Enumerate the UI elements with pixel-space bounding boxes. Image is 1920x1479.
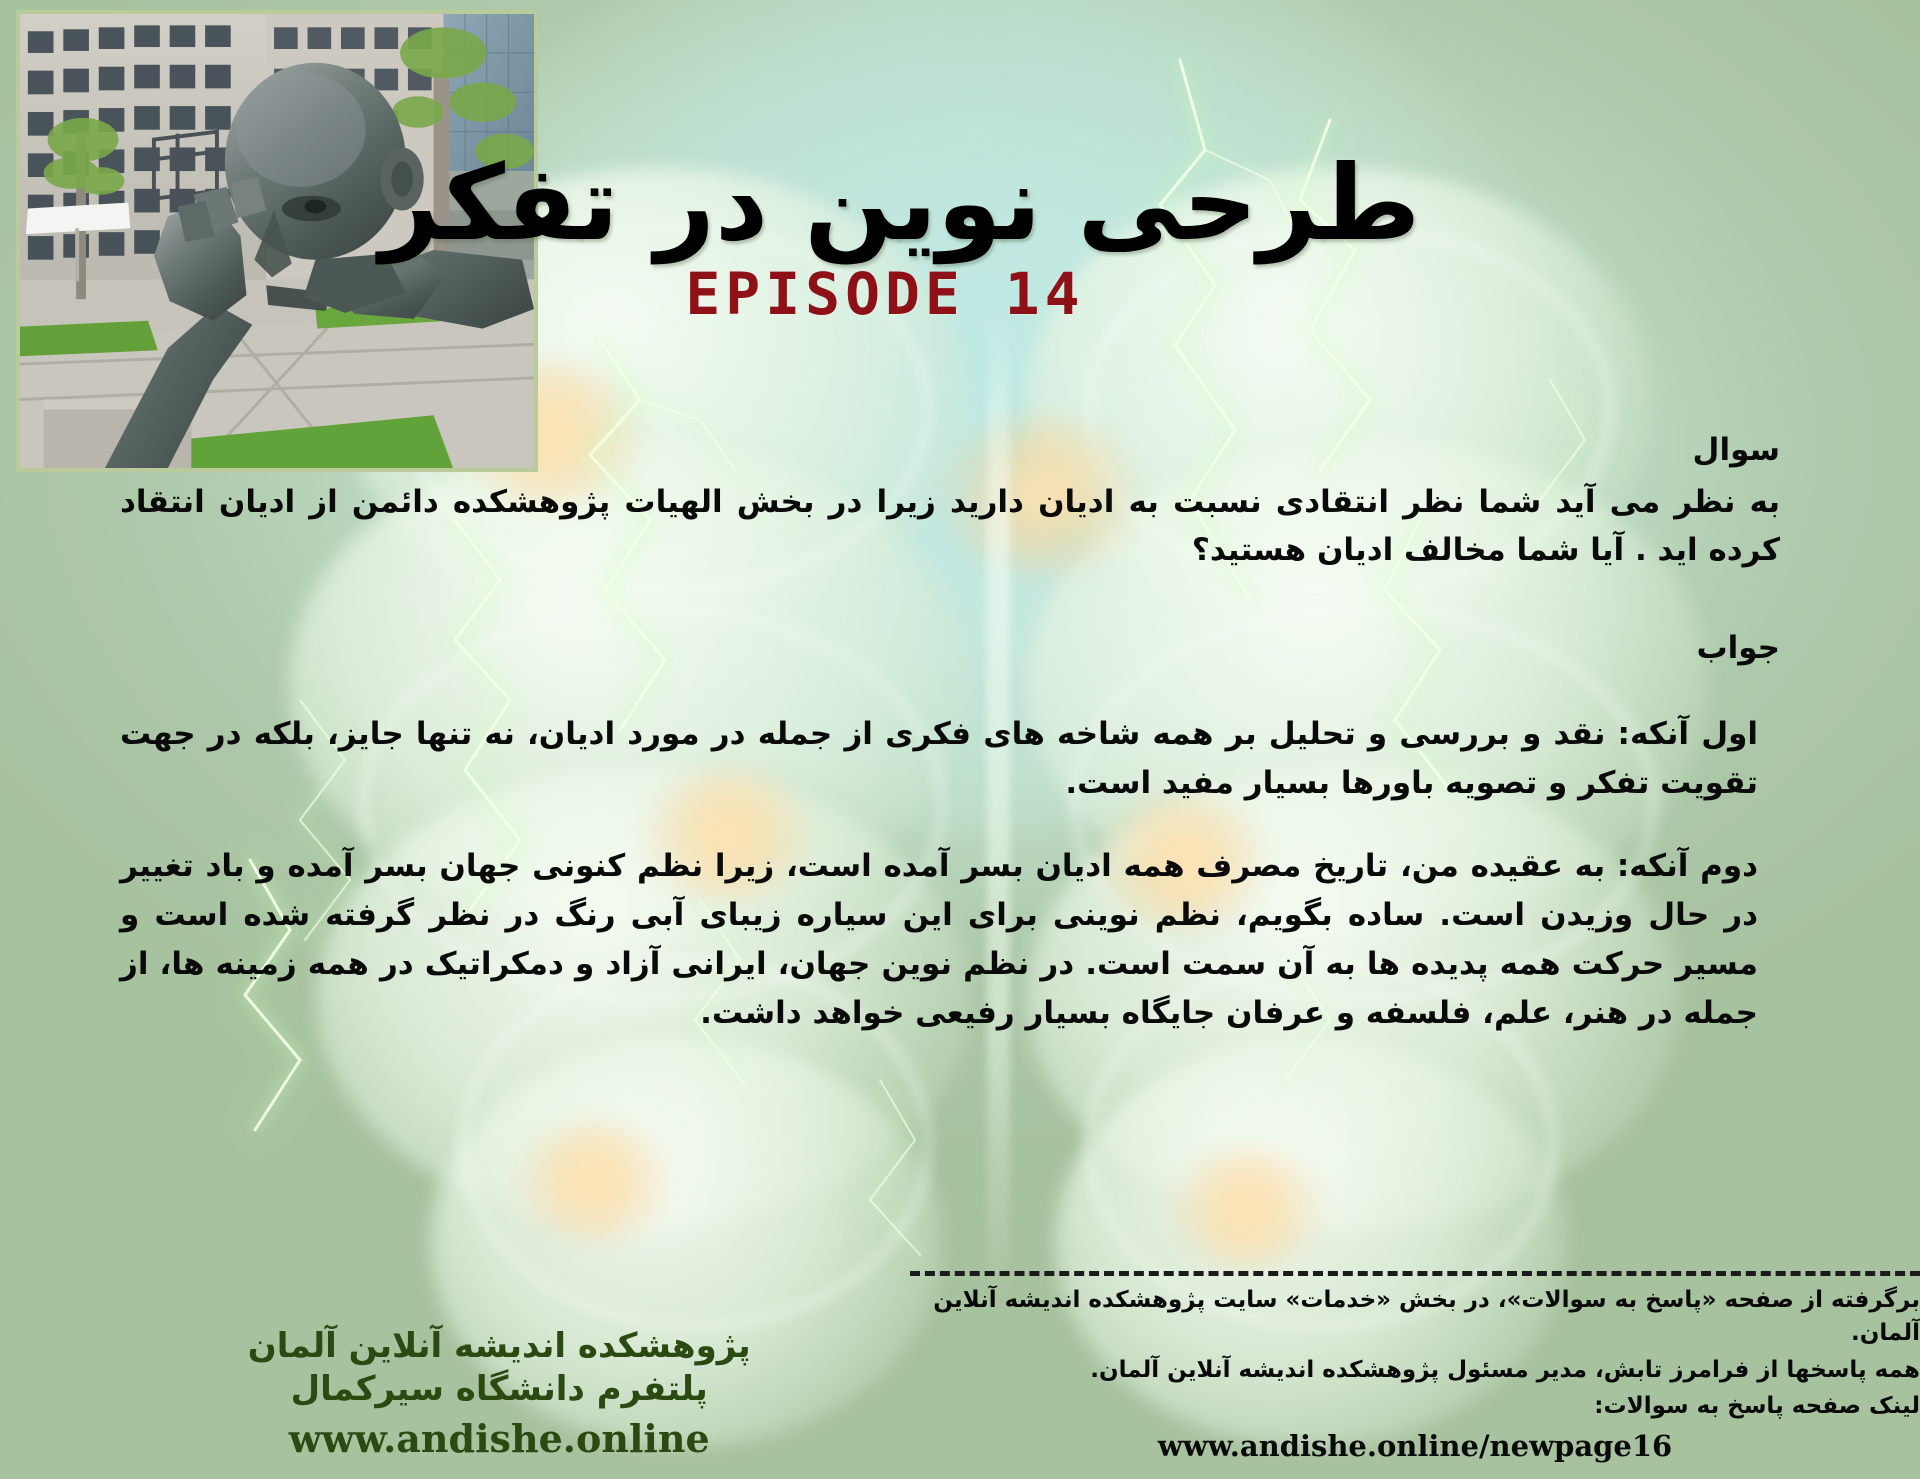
answer-paragraph-2: دوم آنکه: به عقیده من، تاریخ مصرف همه اد… — [120, 842, 1780, 1038]
answer-paragraph-1: اول آنکه: نقد و بررسی و تحلیل بر همه شاخ… — [120, 710, 1780, 808]
source-line-1: برگرفته از صفحه «پاسخ به سوالات»، در بخش… — [910, 1284, 1920, 1349]
source-block: برگرفته از صفحه «پاسخ به سوالات»، در بخش… — [910, 1271, 1920, 1463]
organization-platform: پلتفرم دانشگاه سیرکمال — [0, 1368, 998, 1412]
question-text: به نظر می آید شما نظر انتقادی نسبت به اد… — [120, 478, 1780, 574]
source-line-3: لینک صفحه پاسخ به سوالات: — [910, 1390, 1920, 1423]
source-line-2: همه پاسخها از فرامرز تابش، مدیر مسئول پژ… — [910, 1354, 1920, 1387]
question-label: سوال — [120, 432, 1780, 468]
organization-url[interactable]: www.andishe.online — [0, 1416, 998, 1461]
poster-root: طرحی نوین در تفکر EPISODE 14 سوال به نظر… — [0, 0, 1920, 1479]
source-url[interactable]: www.andishe.online/newpage16 — [910, 1429, 1920, 1463]
spacer — [120, 574, 1780, 630]
answer-label: جواب — [120, 630, 1780, 666]
spacer — [120, 808, 1780, 842]
dashed-divider — [910, 1271, 1920, 1276]
main-content: سوال به نظر می آید شما نظر انتقادی نسبت … — [0, 432, 1920, 1038]
organization-block: پژوهشکده اندیشه آنلاین آلمان پلتفرم دانش… — [0, 1325, 998, 1461]
spacer — [120, 676, 1780, 710]
organization-name: پژوهشکده اندیشه آنلاین آلمان — [0, 1325, 998, 1369]
thinker-statue-photo — [16, 10, 538, 472]
